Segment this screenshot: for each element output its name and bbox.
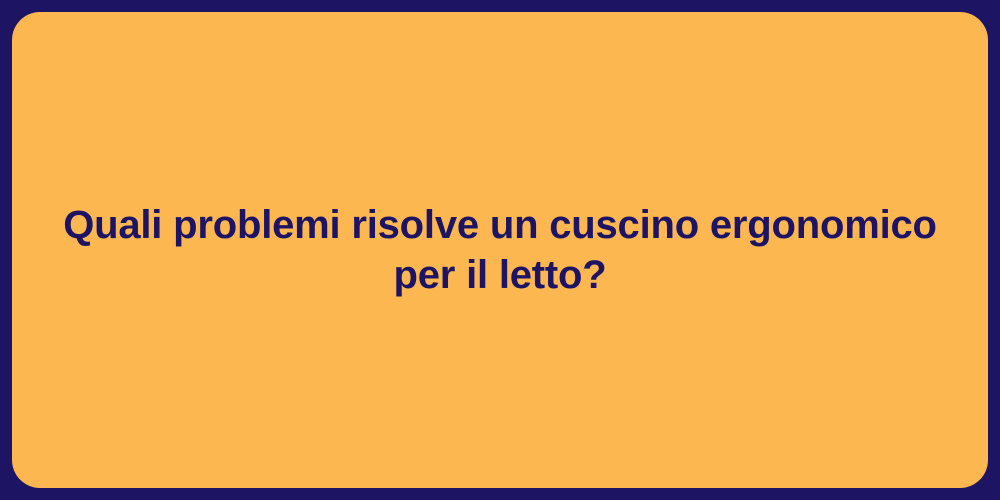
- page-title: Quali problemi risolve un cuscino ergono…: [50, 200, 950, 300]
- card-frame: Quali problemi risolve un cuscino ergono…: [0, 0, 1000, 500]
- card-panel: Quali problemi risolve un cuscino ergono…: [12, 12, 988, 488]
